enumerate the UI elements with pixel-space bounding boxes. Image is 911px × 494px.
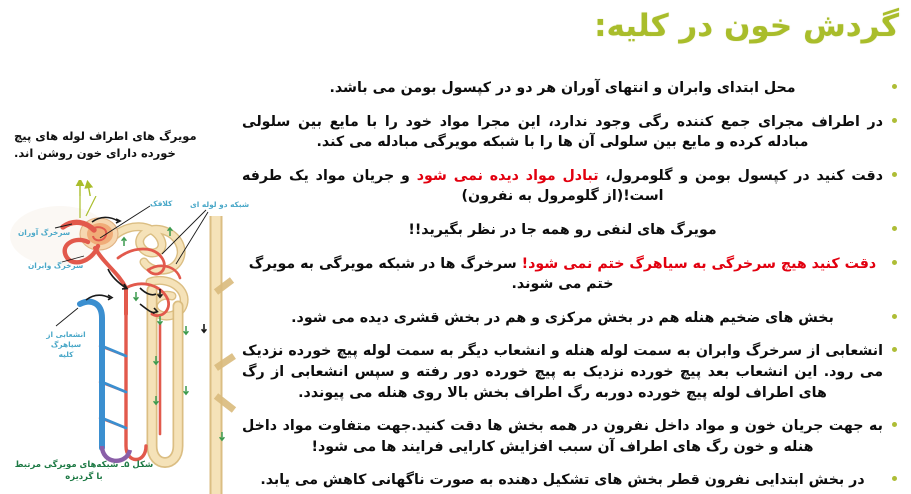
bullet-text: بخش های ضخیم هنله هم در بخش مرکزی و هم د… xyxy=(242,308,883,329)
list-item: انشعابی از سرخرگ وابران به سمت لوله هنله… xyxy=(242,341,897,403)
bullet-text-mixed: دقت کنید هیچ سرخرگی به سیاهرگ ختم نمی شو… xyxy=(242,254,883,295)
diagram-label-efferent-arteriole: سرخرگ وابران xyxy=(28,261,83,270)
bullet-dot-icon xyxy=(892,118,897,123)
list-item: در بخش ابتدایی نفرون قطر بخش های تشکیل د… xyxy=(242,470,897,491)
diagram-label-glomerulus: کلافک xyxy=(150,199,172,208)
bullet-dot-icon xyxy=(892,314,897,319)
bullet-dot-icon xyxy=(892,476,897,481)
bullet-dot-icon xyxy=(892,347,897,352)
diagram-label-afferent-arteriole: سرخرگ آوران xyxy=(18,228,70,237)
figure-caption: شکل ۵ـ شبکه‌های مویرگی مرتبط با گردیزه xyxy=(14,459,154,485)
list-item: در اطراف مجرای جمع کننده رگی وجود ندارد،… xyxy=(242,112,897,153)
bullet-dot-icon xyxy=(892,226,897,231)
diagram-label-peritubular-network: شبکه دو لوله ای xyxy=(190,200,249,209)
bullet-text: در بخش ابتدایی نفرون قطر بخش های تشکیل د… xyxy=(242,470,883,491)
page-title: گردش خون در کلیه: xyxy=(594,8,899,44)
bullet-text: در اطراف مجرای جمع کننده رگی وجود ندارد،… xyxy=(242,112,883,153)
list-item: محل ابتدای وابران و انتهای آوران هر دو د… xyxy=(242,78,897,99)
annotation-text: مویرگ های اطراف لوله های پیچ خورده دارای… xyxy=(14,128,224,163)
bullet-list: محل ابتدای وابران و انتهای آوران هر دو د… xyxy=(242,78,897,494)
list-item: دقت کنید هیچ سرخرگی به سیاهرگ ختم نمی شو… xyxy=(242,254,897,295)
bullet-dot-icon xyxy=(892,172,897,177)
bullet-text: به جهت جریان خون و مواد داخل نفرون در هم… xyxy=(242,416,883,457)
bullet-text: انشعابی از سرخرگ وابران به سمت لوله هنله… xyxy=(242,341,883,403)
diagram-label-renal-vein-branch: انشعابی از سیاهرگ کلیه xyxy=(43,330,89,360)
bullet-text-mixed: دقت کنید در کپسول بومن و گلومرول، تبادل … xyxy=(242,166,883,207)
list-item: مویرگ های لنفی رو همه جا در نظر بگیرید!! xyxy=(242,220,897,241)
bullet-dot-icon xyxy=(892,84,897,89)
bullet-text-part-highlight: دقت کنید هیچ سرخرگی به سیاهرگ ختم نمی شو… xyxy=(522,256,877,272)
slide-root: گردش خون در کلیه: محل ابتدای وابران و ان… xyxy=(0,0,911,494)
bullet-text-part-plain: دقت کنید در کپسول بومن و گلومرول، xyxy=(599,168,883,184)
bullet-text-part-highlight: تبادل مواد دیده نمی شود xyxy=(417,168,599,184)
nephron-diagram xyxy=(0,196,240,494)
list-item: دقت کنید در کپسول بومن و گلومرول، تبادل … xyxy=(242,166,897,207)
bullet-dot-icon xyxy=(892,260,897,265)
bullet-dot-icon xyxy=(892,422,897,427)
nephron-diagram-svg xyxy=(0,196,240,494)
list-item: به جهت جریان خون و مواد داخل نفرون در هم… xyxy=(242,416,897,457)
bullet-text: مویرگ های لنفی رو همه جا در نظر بگیرید!! xyxy=(242,220,883,241)
bullet-text: محل ابتدای وابران و انتهای آوران هر دو د… xyxy=(242,78,883,99)
list-item: بخش های ضخیم هنله هم در بخش مرکزی و هم د… xyxy=(242,308,897,329)
